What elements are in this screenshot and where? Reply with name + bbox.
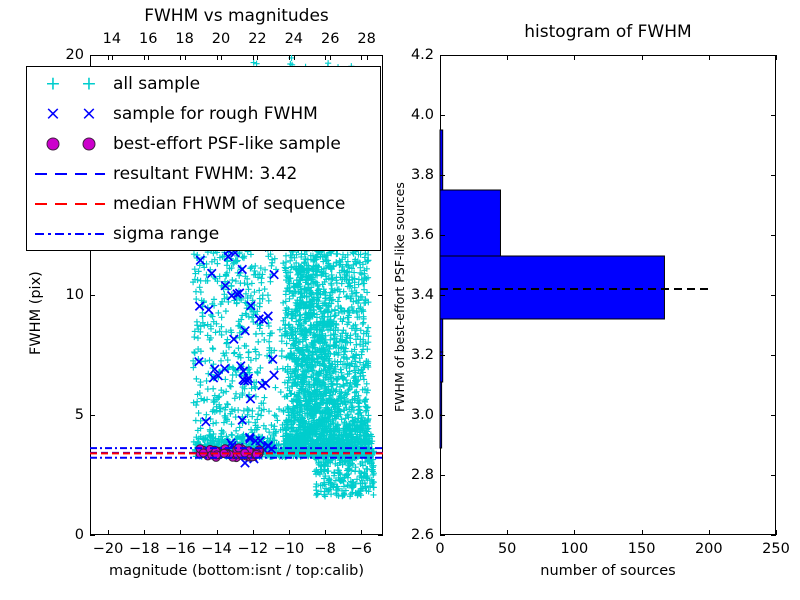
histogram-bar (440, 382, 442, 415)
axis-tick (574, 530, 575, 535)
histogram-bar (440, 256, 664, 319)
axis-tick (771, 295, 776, 296)
legend-rows: ++all sample××sample for rough FWHMbest-… (27, 69, 380, 249)
histogram-xtick-label: 100 (561, 541, 589, 557)
axis-tick (709, 530, 710, 535)
dashed-line-icon (35, 203, 105, 205)
legend-item-label: resultant FWHM: 3.42 (113, 164, 297, 184)
legend-item[interactable]: ××sample for rough FWHM (27, 99, 380, 129)
axis-tick (440, 355, 445, 356)
histogram-xtick-label: 200 (695, 541, 723, 557)
axis-tick (771, 235, 776, 236)
axis-tick (440, 175, 445, 176)
circle-marker-icon (47, 138, 60, 151)
legend-item[interactable]: sigma range (27, 219, 380, 249)
plus-marker-icon: + (81, 75, 97, 94)
histogram-bar (440, 190, 500, 256)
axis-tick (771, 355, 776, 356)
histogram-xtick-label: 150 (628, 541, 656, 557)
histogram-ytick-label: 4.0 (396, 107, 434, 123)
histogram-xtick-label: 250 (762, 541, 790, 557)
axis-tick (440, 55, 445, 56)
axis-tick (642, 55, 643, 60)
dashed-line-icon (35, 173, 105, 175)
cross-marker-icon: × (81, 105, 97, 124)
histogram-ytick-label: 2.8 (396, 467, 434, 483)
axis-tick (771, 535, 776, 536)
axis-tick (440, 115, 445, 116)
axis-tick (771, 55, 776, 56)
legend-item[interactable]: best-effort PSF-like sample (27, 129, 380, 159)
dashdot-line-icon (35, 233, 105, 235)
histogram-ytick-label: 2.6 (396, 527, 434, 543)
axis-tick (771, 475, 776, 476)
legend-item-label: all sample (113, 74, 200, 94)
histogram-xtick-label: 0 (435, 541, 444, 557)
histogram-bar (440, 319, 443, 352)
histogram-xlabel: number of sources (440, 563, 776, 579)
legend-item[interactable]: resultant FWHM: 3.42 (27, 159, 380, 189)
axis-tick (440, 415, 445, 416)
circle-marker-icon (83, 138, 96, 151)
axis-tick (574, 55, 575, 60)
axis-tick (771, 415, 776, 416)
histogram-ylabel: FWHM of best-effort PSF-like sources (392, 182, 407, 412)
axis-tick (709, 55, 710, 60)
legend: ++all sample××sample for rough FWHMbest-… (26, 66, 381, 251)
legend-item-label: sigma range (113, 224, 219, 244)
axis-tick (771, 175, 776, 176)
axis-tick (776, 530, 777, 535)
axis-tick (771, 115, 776, 116)
axis-tick (440, 535, 445, 536)
legend-item-label: median FHWM of sequence (113, 194, 345, 214)
legend-item-label: sample for rough FWHM (113, 104, 318, 124)
histogram-bar (440, 352, 443, 382)
axis-tick (507, 530, 508, 535)
axis-tick (440, 475, 445, 476)
histogram-xtick-label: 50 (498, 541, 516, 557)
legend-item[interactable]: median FHWM of sequence (27, 189, 380, 219)
axis-tick (642, 530, 643, 535)
axis-tick (440, 295, 445, 296)
histogram-bar (440, 130, 443, 190)
legend-item-label: best-effort PSF-like sample (113, 134, 341, 154)
histogram-ytick-label: 3.8 (396, 167, 434, 183)
cross-marker-icon: × (45, 105, 61, 124)
histogram-ytick-label: 4.2 (396, 47, 434, 63)
axis-tick (440, 235, 445, 236)
axis-tick (507, 55, 508, 60)
plus-marker-icon: + (45, 75, 61, 94)
axis-tick (776, 55, 777, 60)
legend-item[interactable]: ++all sample (27, 69, 380, 99)
figure-canvas: FWHM vs magnitudes −20−18−16−14−12−10−8−… (0, 0, 800, 600)
histogram-bar (440, 415, 442, 448)
